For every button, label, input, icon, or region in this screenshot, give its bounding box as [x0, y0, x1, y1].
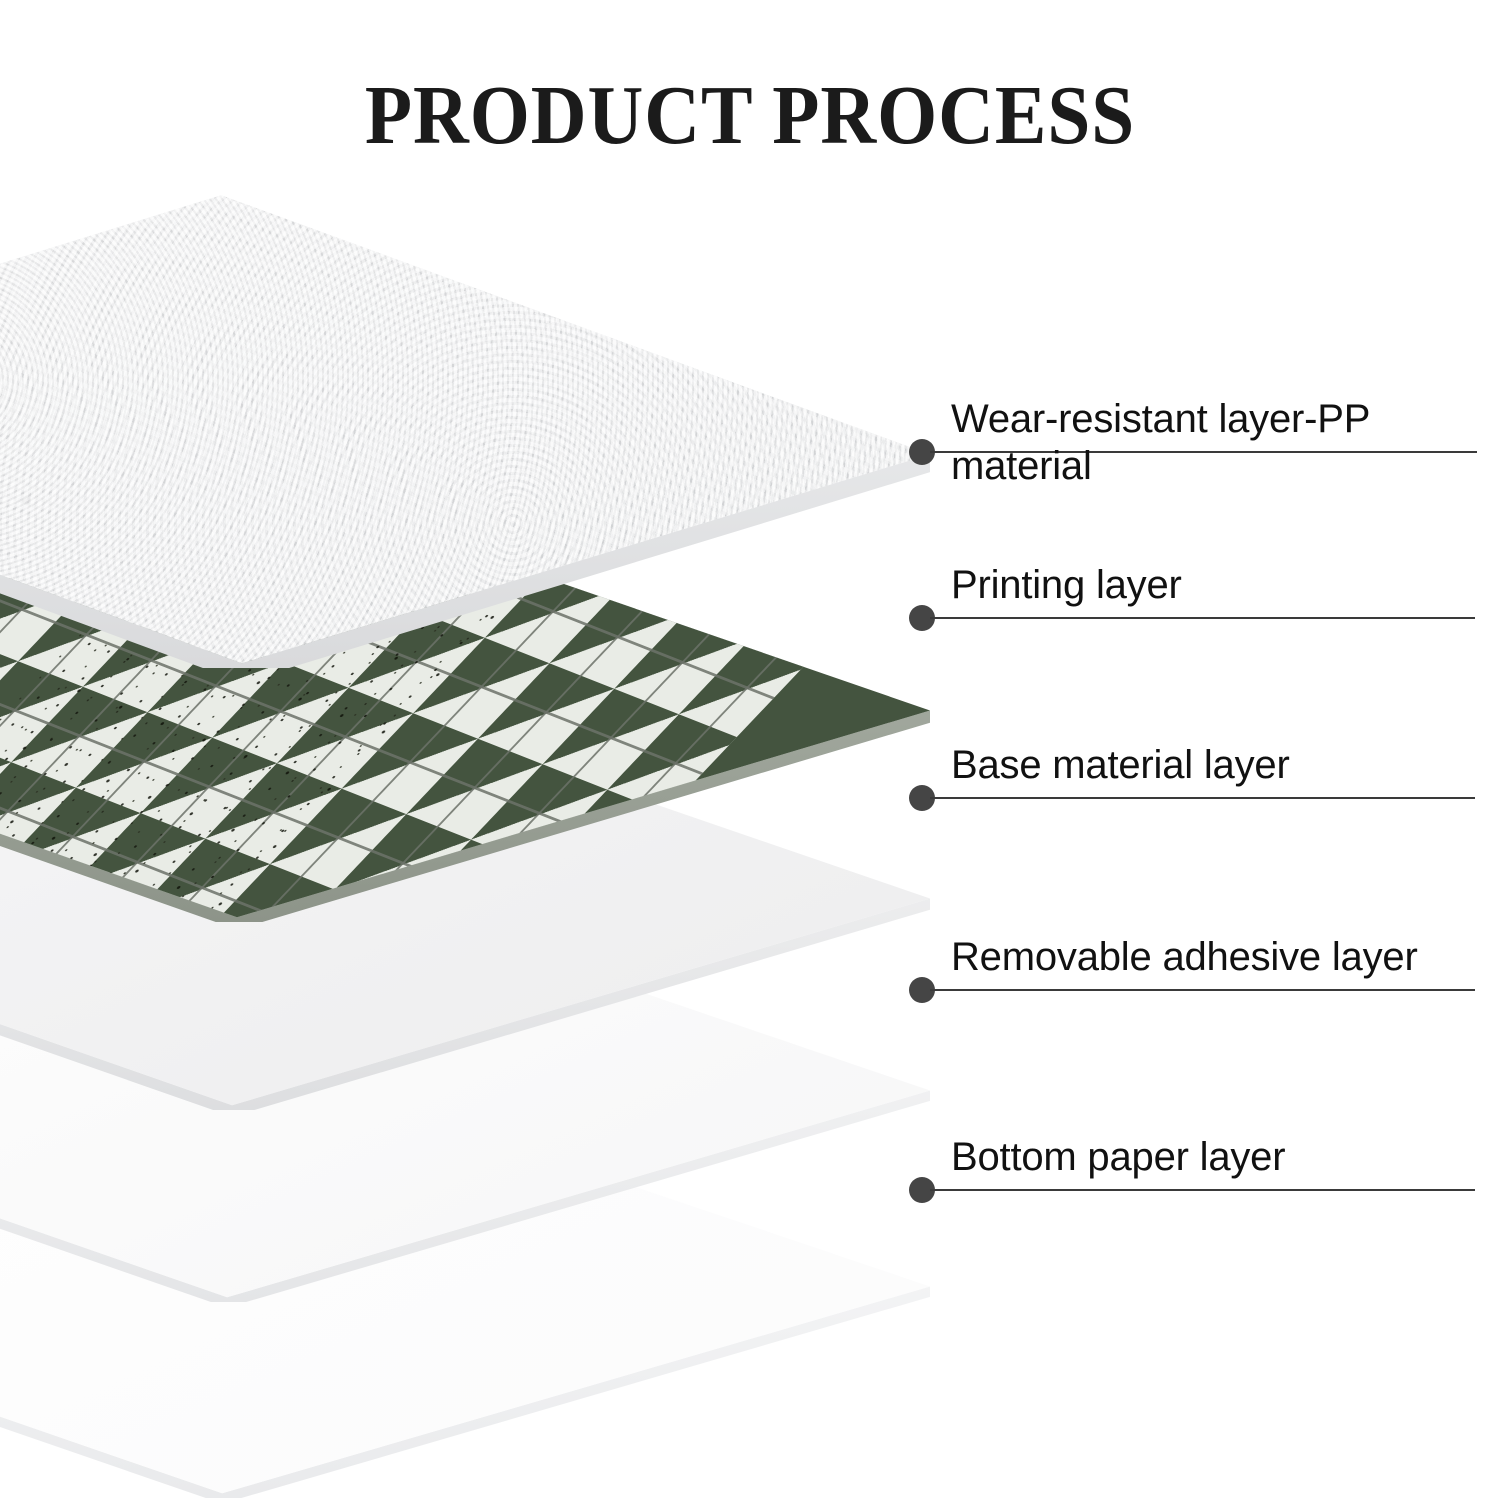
callout-label-printing: Printing layer	[951, 562, 1182, 609]
callout-rule-printing	[930, 617, 1475, 619]
callout-rule-removable-adhesive	[930, 989, 1475, 991]
callout-rule-base-material	[930, 797, 1475, 799]
layer-sheet-wear-resistant	[0, 188, 930, 668]
callout-rule-bottom-paper	[930, 1189, 1475, 1191]
callout-label-bottom-paper: Bottom paper layer	[951, 1134, 1285, 1181]
callout-label-wear-resistant: Wear-resistant layer-PP material	[951, 396, 1481, 490]
callout-label-removable-adhesive: Removable adhesive layer	[951, 934, 1418, 981]
product-process-infographic: PRODUCT PROCESS	[0, 0, 1500, 1500]
callout-label-base-material: Base material layer	[951, 742, 1290, 789]
